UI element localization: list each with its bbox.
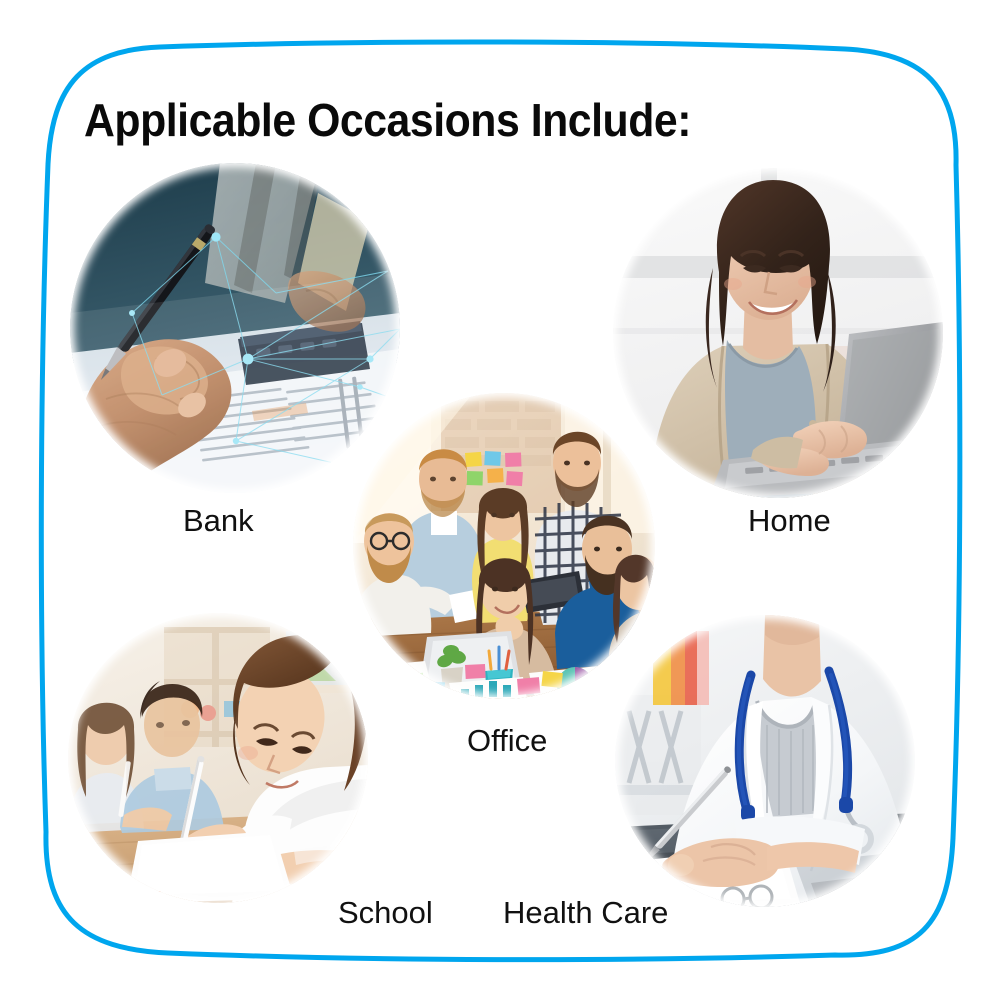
occasion-image-healthcare: [615, 615, 915, 907]
occasion-image-home: [613, 168, 943, 498]
page-title: Applicable Occasions Include:: [84, 93, 691, 147]
bank-scene: [70, 163, 400, 493]
occasion-label-healthcare: Health Care: [503, 895, 668, 931]
school-scene: [68, 613, 368, 903]
infographic-page: Applicable Occasions Include:: [0, 0, 1000, 1000]
occasion-label-office: Office: [467, 723, 547, 759]
healthcare-scene: [615, 615, 915, 907]
home-scene: [613, 168, 943, 498]
office-scene: [353, 393, 655, 699]
occasion-image-office: [353, 393, 655, 699]
occasion-image-bank: [70, 163, 400, 493]
occasion-label-home: Home: [748, 503, 831, 539]
occasion-image-school: [68, 613, 368, 903]
occasion-label-bank: Bank: [183, 503, 254, 539]
occasion-label-school: School: [338, 895, 433, 931]
